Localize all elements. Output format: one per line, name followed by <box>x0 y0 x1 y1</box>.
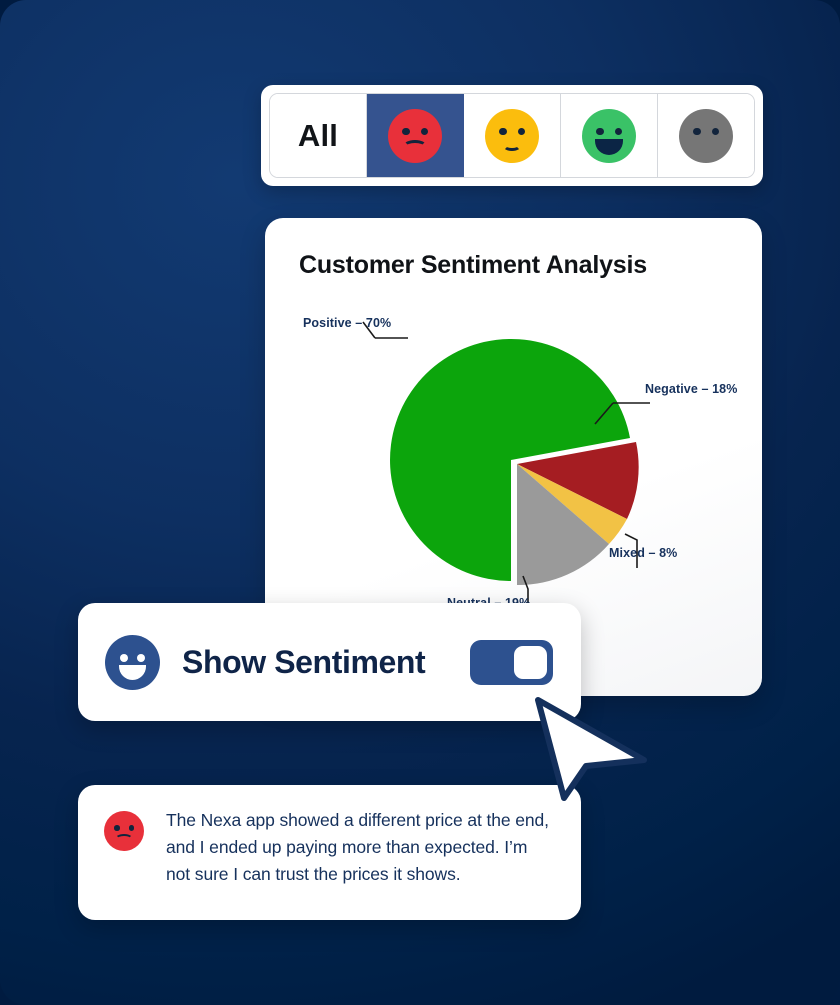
sad-face-icon <box>388 109 442 163</box>
happy-face-icon <box>105 635 160 690</box>
testimonial-card: The Nexa app showed a different price at… <box>78 785 581 920</box>
happy-face-icon <box>582 109 636 163</box>
pie-label-mixed: Mixed – 8% <box>609 546 677 560</box>
pie-label-positive: Positive – 70% <box>303 316 391 330</box>
filter-option-all-label: All <box>298 118 338 154</box>
slight-smile-face-icon <box>485 109 539 163</box>
filter-option-positive[interactable] <box>561 94 658 177</box>
show-sentiment-toggle[interactable] <box>470 640 553 685</box>
show-sentiment-label: Show Sentiment <box>182 644 470 681</box>
show-sentiment-card[interactable]: Show Sentiment <box>78 603 581 721</box>
filter-option-mixed[interactable] <box>464 94 561 177</box>
toggle-knob <box>514 646 547 679</box>
app-canvas: All <box>0 0 840 1005</box>
sad-face-icon <box>104 811 144 851</box>
sentiment-filter-bar: All <box>261 85 763 186</box>
filter-option-neutral[interactable] <box>658 94 754 177</box>
mouse-pointer-icon <box>516 694 656 804</box>
pie-label-negative: Negative – 18% <box>645 382 737 396</box>
filter-option-all[interactable]: All <box>270 94 367 177</box>
testimonial-text: The Nexa app showed a different price at… <box>166 807 551 898</box>
filter-segmented-control: All <box>269 93 755 178</box>
filter-option-negative[interactable] <box>367 94 464 177</box>
neutral-face-icon <box>679 109 733 163</box>
